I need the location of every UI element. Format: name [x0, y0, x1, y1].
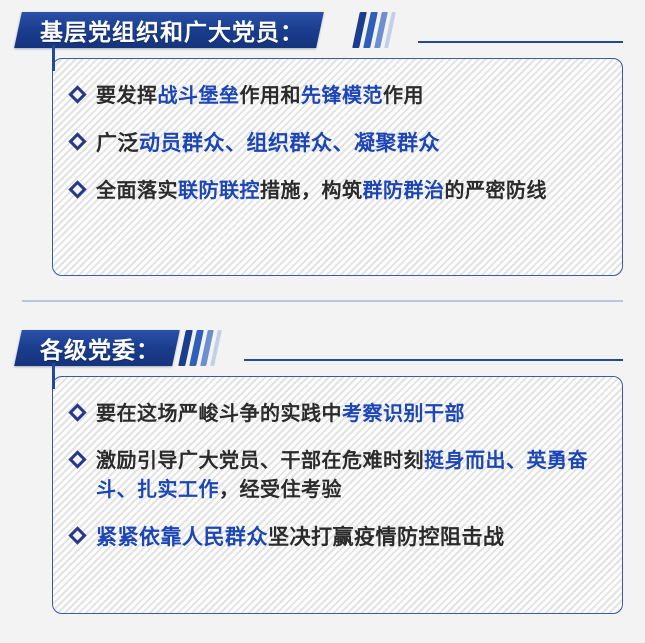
bullet-list: 要发挥战斗堡垒作用和先锋模范作用 广泛动员群众、组织群众、凝聚群众 全面落实联防… [67, 81, 600, 205]
section-party-committees: 各级党委： 要在这场严峻斗争的实践中考察识别干部 激励引导广大党员、干部在危难时 [0, 318, 645, 614]
section-grassroots-party: 基层党组织和广大党员： 要发挥战斗堡垒作用和先锋模范作用 广泛动员群众、组织群众 [0, 0, 645, 276]
section-banner-label: 各级党委： [40, 331, 160, 365]
diamond-bullet-icon [68, 181, 86, 199]
content-card: 要发挥战斗堡垒作用和先锋模范作用 广泛动员群众、组织群众、凝聚群众 全面落实联防… [52, 58, 623, 276]
content-card: 要在这场严峻斗争的实践中考察识别干部 激励引导广大党员、干部在危难时刻挺身而出、… [52, 376, 623, 614]
plain-text: ，经受住考验 [219, 477, 342, 501]
card-accent-stub [52, 363, 55, 389]
plain-text: 坚决打赢疫情防控阻击战 [268, 525, 505, 549]
infographic-page: 基层党组织和广大党员： 要发挥战斗堡垒作用和先锋模范作用 广泛动员群众、组织群众 [0, 0, 645, 643]
section-header-row: 基层党组织和广大党员： [18, 0, 645, 58]
list-item: 紧紧依靠人民群众坚决打赢疫情防控阻击战 [67, 522, 600, 552]
section-banner-label: 基层党组织和广大党员： [40, 13, 304, 47]
diamond-bullet-icon [68, 132, 86, 150]
list-item-text: 紧紧依靠人民群众坚决打赢疫情防控阻击战 [96, 522, 505, 552]
list-item: 要在这场严峻斗争的实践中考察识别干部 [67, 399, 600, 428]
diamond-bullet-icon [68, 450, 86, 468]
list-item: 要发挥战斗堡垒作用和先锋模范作用 [67, 81, 600, 110]
plain-text: 的严密防线 [445, 178, 548, 202]
bullet-list: 要在这场严峻斗争的实践中考察识别干部 激励引导广大党员、干部在危难时刻挺身而出、… [67, 399, 600, 552]
plain-text: 要发挥 [96, 83, 158, 107]
emphasis-text: 先锋模范 [301, 83, 383, 107]
banner-rule-line [244, 359, 623, 361]
list-item-text: 全面落实联防联控措施，构筑群防群治的严密防线 [96, 176, 547, 205]
list-item: 激励引导广大党员、干部在危难时刻挺身而出、英勇奋斗、扎实工作，经受住考验 [67, 446, 600, 504]
list-item-text: 要发挥战斗堡垒作用和先锋模范作用 [96, 81, 424, 110]
plain-text: 作用和 [240, 83, 302, 107]
list-item: 广泛动员群众、组织群众、凝聚群众 [67, 128, 600, 158]
emphasis-text: 动员群众、组织群众、凝聚群众 [139, 131, 440, 155]
section-header-row: 各级党委： [18, 318, 645, 376]
banner-rule-line [418, 41, 623, 43]
section-divider [22, 300, 623, 302]
emphasis-text: 群防群治 [363, 178, 445, 202]
diamond-bullet-icon [68, 403, 86, 421]
card-accent-stub [52, 45, 55, 71]
section-banner: 各级党委： [14, 330, 180, 366]
banner-stripes-decoration [182, 330, 218, 366]
emphasis-text: 联防联控 [178, 178, 260, 202]
list-item-text: 激励引导广大党员、干部在危难时刻挺身而出、英勇奋斗、扎实工作，经受住考验 [96, 446, 600, 504]
plain-text: 作用 [383, 83, 424, 107]
diamond-bullet-icon [68, 526, 86, 544]
emphasis-text: 紧紧依靠人民群众 [96, 525, 268, 549]
plain-text: 要在这场严峻斗争的实践中 [96, 401, 342, 425]
plain-text: 措施，构筑 [260, 178, 363, 202]
plain-text: 全面落实 [96, 178, 178, 202]
section-banner: 基层党组织和广大党员： [14, 12, 324, 48]
emphasis-text: 考察识别干部 [342, 401, 465, 425]
list-item: 全面落实联防联控措施，构筑群防群治的严密防线 [67, 176, 600, 205]
plain-text: 激励引导广大党员、干部在危难时刻 [96, 448, 424, 472]
diamond-bullet-icon [68, 85, 86, 103]
plain-text: 广泛 [96, 131, 139, 155]
list-item-text: 要在这场严峻斗争的实践中考察识别干部 [96, 399, 465, 428]
list-item-text: 广泛动员群众、组织群众、凝聚群众 [96, 128, 440, 158]
emphasis-text: 战斗堡垒 [158, 83, 240, 107]
banner-stripes-decoration [356, 12, 392, 48]
